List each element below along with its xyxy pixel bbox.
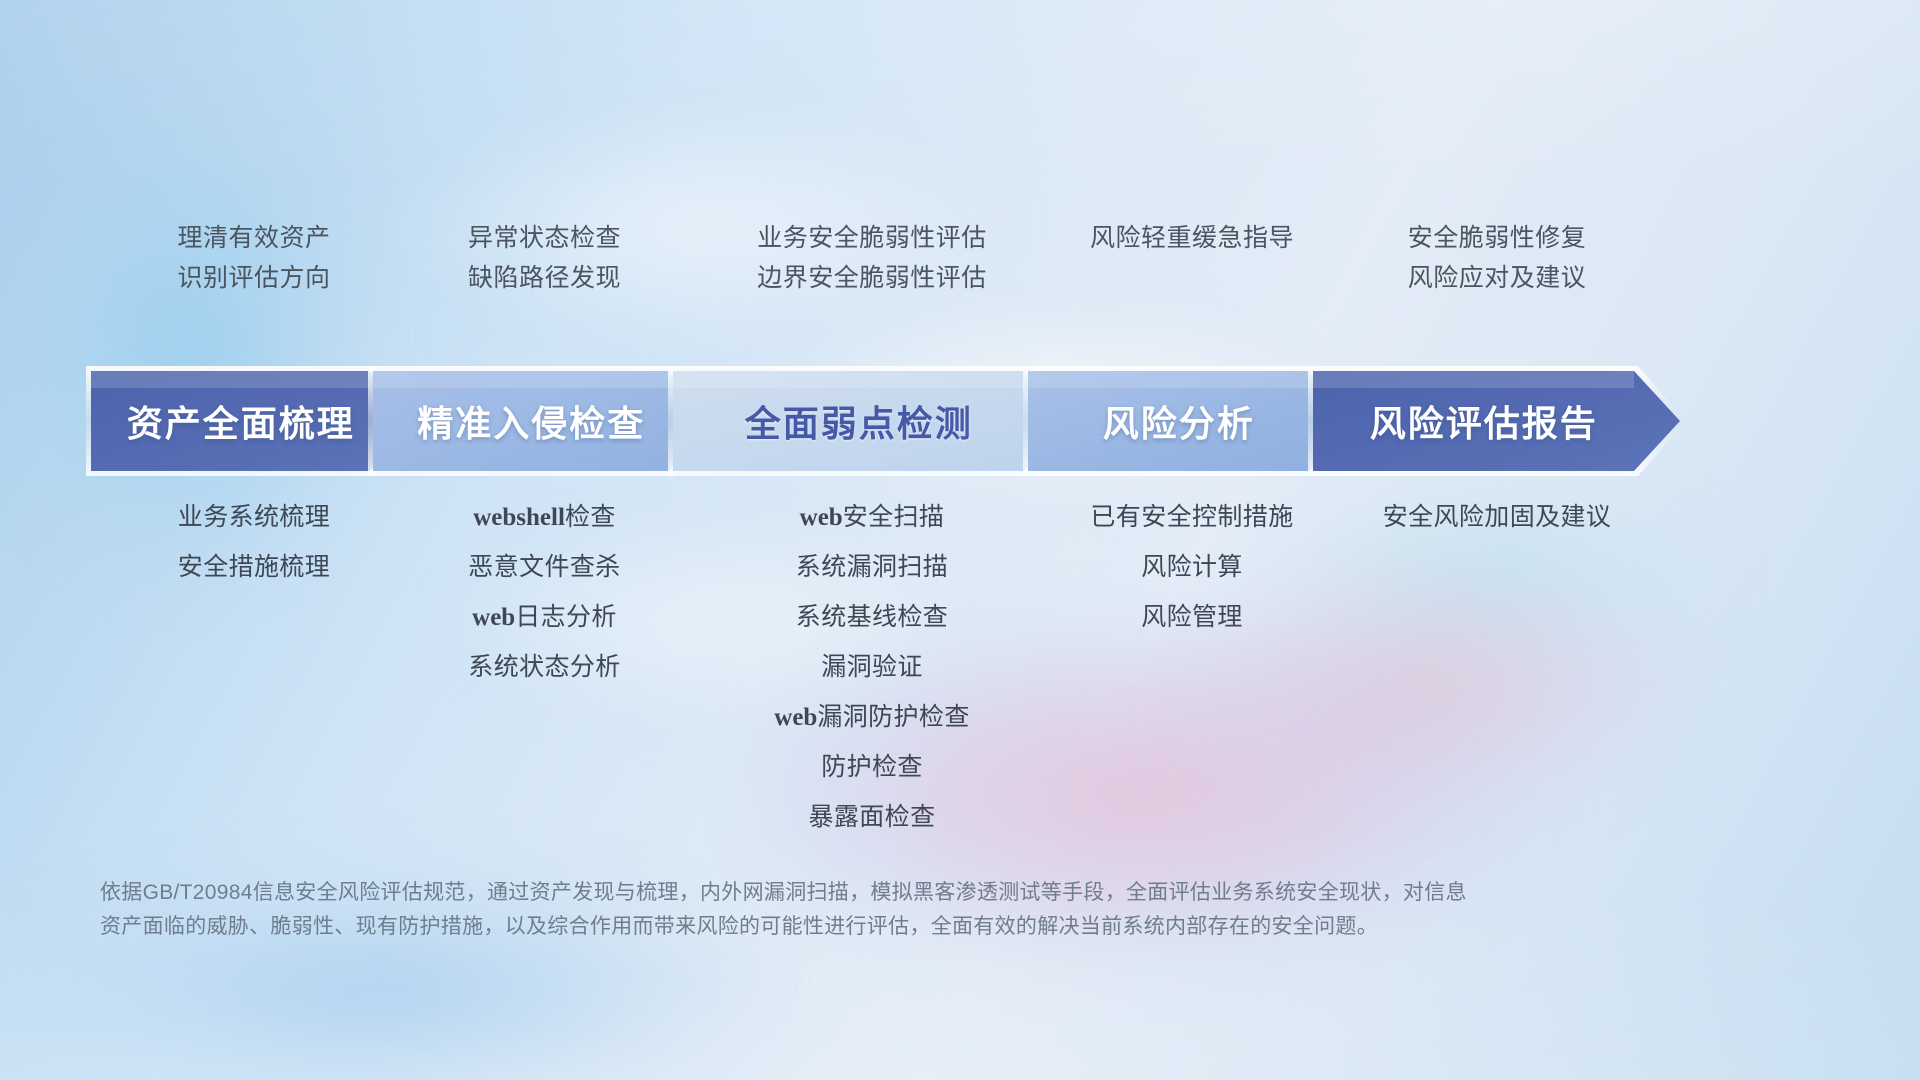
stage-detail-text: 日志分析 <box>515 603 617 631</box>
infographic-root: 理清有效资产识别评估方向异常状态检查缺陷路径发现业务安全脆弱性评估边界安全脆弱性… <box>0 0 1920 1080</box>
stage-detail-item: 风险计算 <box>1141 555 1243 580</box>
stage-details-weakness-detection: web安全扫描系统漏洞扫描系统基线检查漏洞验证web漏洞防护检查防护检查暴露面检… <box>668 505 1076 830</box>
stage-details-row: 业务系统梳理安全措施梳理webshell检查恶意文件查杀web日志分析系统状态分… <box>0 505 1920 830</box>
stage-detail-item: 业务系统梳理 <box>178 505 330 530</box>
stage-detail-text: 漏洞防护检查 <box>817 703 969 731</box>
process-arrow-label: 全面弱点检测 <box>745 395 973 447</box>
footer-line-1: 依据GB/T20984信息安全风险评估规范，通过资产发现与梳理，内外网漏洞扫描，… <box>100 876 1660 910</box>
stage-detail-keyword: web <box>774 704 817 731</box>
top-point-line: 业务安全脆弱性评估 <box>757 226 987 252</box>
process-arrow-band: 资产全面梳理精准入侵检查全面弱点检测风险分析风险评估报告 <box>0 366 1920 476</box>
top-point-line: 识别评估方向 <box>177 266 330 292</box>
stage-detail-keyword: web <box>800 504 843 531</box>
top-points-weakness-detection: 业务安全脆弱性评估边界安全脆弱性评估 <box>668 226 1076 356</box>
stage-detail-item: 安全措施梳理 <box>178 555 330 580</box>
process-arrow-assessment-report[interactable]: 风险评估报告 <box>1308 366 1686 476</box>
stage-detail-item: 恶意文件查杀 <box>468 555 620 580</box>
process-arrow-label: 精准入侵检查 <box>417 395 645 447</box>
stage-detail-item: 安全风险加固及建议 <box>1383 505 1612 530</box>
stage-detail-keyword: webshell <box>473 504 565 531</box>
footer-description: 依据GB/T20984信息安全风险评估规范，通过资产发现与梳理，内外网漏洞扫描，… <box>100 876 1660 944</box>
stage-detail-item: web安全扫描 <box>800 505 945 530</box>
stage-detail-item: 防护检查 <box>821 755 923 780</box>
stage-detail-item: web漏洞防护检查 <box>774 705 969 730</box>
stage-detail-item: 系统基线检查 <box>796 605 948 630</box>
process-arrow-label: 资产全面梳理 <box>127 395 355 447</box>
top-point-line: 边界安全脆弱性评估 <box>757 266 987 292</box>
top-points-assessment-report: 安全脆弱性修复风险应对及建议 <box>1308 226 1686 356</box>
stage-details-assessment-report: 安全风险加固及建议 <box>1308 505 1686 830</box>
top-point-line: 异常状态检查 <box>468 226 621 252</box>
top-point-line: 安全脆弱性修复 <box>1408 226 1587 252</box>
top-point-line: 风险应对及建议 <box>1408 266 1587 292</box>
stage-detail-item: 系统状态分析 <box>468 655 620 680</box>
top-points-row: 理清有效资产识别评估方向异常状态检查缺陷路径发现业务安全脆弱性评估边界安全脆弱性… <box>0 226 1920 356</box>
stage-detail-item: 风险管理 <box>1141 605 1243 630</box>
top-point-line: 缺陷路径发现 <box>468 266 621 292</box>
stage-detail-item: 暴露面检查 <box>808 805 935 830</box>
stage-detail-text: 检查 <box>565 503 616 531</box>
process-arrow-label: 风险分析 <box>1103 395 1255 447</box>
stage-detail-item: 已有安全控制措施 <box>1090 505 1293 530</box>
stage-detail-text: 安全扫描 <box>843 503 945 531</box>
stage-detail-keyword: web <box>472 604 515 631</box>
top-point-line: 理清有效资产 <box>177 226 330 252</box>
footer-line-2: 资产面临的威胁、脆弱性、现有防护措施，以及综合作用而带来风险的可能性进行评估，全… <box>100 910 1660 944</box>
top-point-line: 风险轻重缓急指导 <box>1090 226 1294 252</box>
stage-detail-item: 漏洞验证 <box>821 655 923 680</box>
process-arrow-weakness-detection[interactable]: 全面弱点检测 <box>668 366 1076 476</box>
stage-detail-item: webshell检查 <box>473 505 616 530</box>
process-arrow-label: 风险评估报告 <box>1370 395 1598 447</box>
stage-detail-item: web日志分析 <box>472 605 617 630</box>
stage-detail-item: 系统漏洞扫描 <box>796 555 948 580</box>
